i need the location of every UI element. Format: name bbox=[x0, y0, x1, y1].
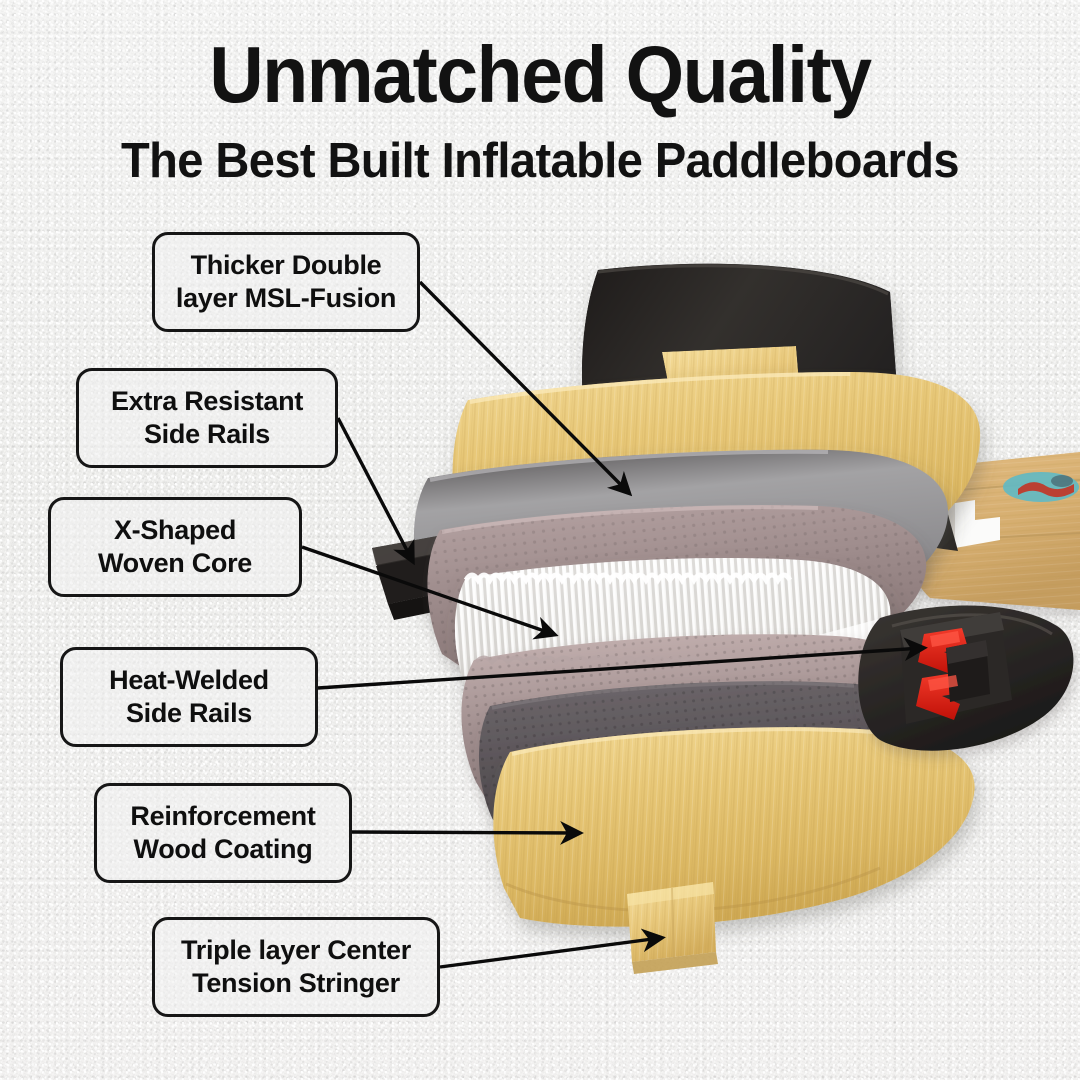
board-logo-decal bbox=[1003, 472, 1079, 502]
callout-reinforcement-wood-coating[interactable]: ReinforcementWood Coating bbox=[94, 783, 352, 883]
callout-line-1: Heat-Welded bbox=[109, 665, 269, 695]
callout-thicker-double-layer-msl-fusion[interactable]: Thicker Doublelayer MSL-Fusion bbox=[152, 232, 420, 332]
callout-line-1: Reinforcement bbox=[130, 801, 315, 831]
callout-line-1: Extra Resistant bbox=[111, 386, 303, 416]
wood-coating-layer bbox=[493, 727, 974, 926]
callout-line-2: Woven Core bbox=[98, 548, 252, 578]
callout-triple-layer-center-tension-stringer[interactable]: Triple layer CenterTension Stringer bbox=[152, 917, 440, 1017]
callout-line-1: X-Shaped bbox=[114, 515, 236, 545]
page-title: Unmatched Quality bbox=[32, 30, 1047, 120]
callout-line-2: Wood Coating bbox=[134, 834, 313, 864]
callout-x-shaped-woven-core[interactable]: X-ShapedWoven Core bbox=[48, 497, 302, 597]
callout-line-2: Side Rails bbox=[126, 698, 252, 728]
infographic-poster: Unmatched Quality The Best Built Inflata… bbox=[0, 0, 1080, 1080]
callout-line-2: layer MSL-Fusion bbox=[176, 283, 396, 313]
page-subtitle: The Best Built Inflatable Paddleboards bbox=[22, 132, 1059, 190]
callout-line-1: Thicker Double bbox=[191, 250, 382, 280]
center-tension-stringer-tab bbox=[627, 882, 718, 974]
callout-heat-welded-side-rails[interactable]: Heat-WeldedSide Rails bbox=[60, 647, 318, 747]
callout-line-1: Triple layer Center bbox=[181, 935, 411, 965]
callout-extra-resistant-side-rails[interactable]: Extra ResistantSide Rails bbox=[76, 368, 338, 468]
callout-line-2: Side Rails bbox=[144, 419, 270, 449]
callout-line-2: Tension Stringer bbox=[192, 968, 400, 998]
